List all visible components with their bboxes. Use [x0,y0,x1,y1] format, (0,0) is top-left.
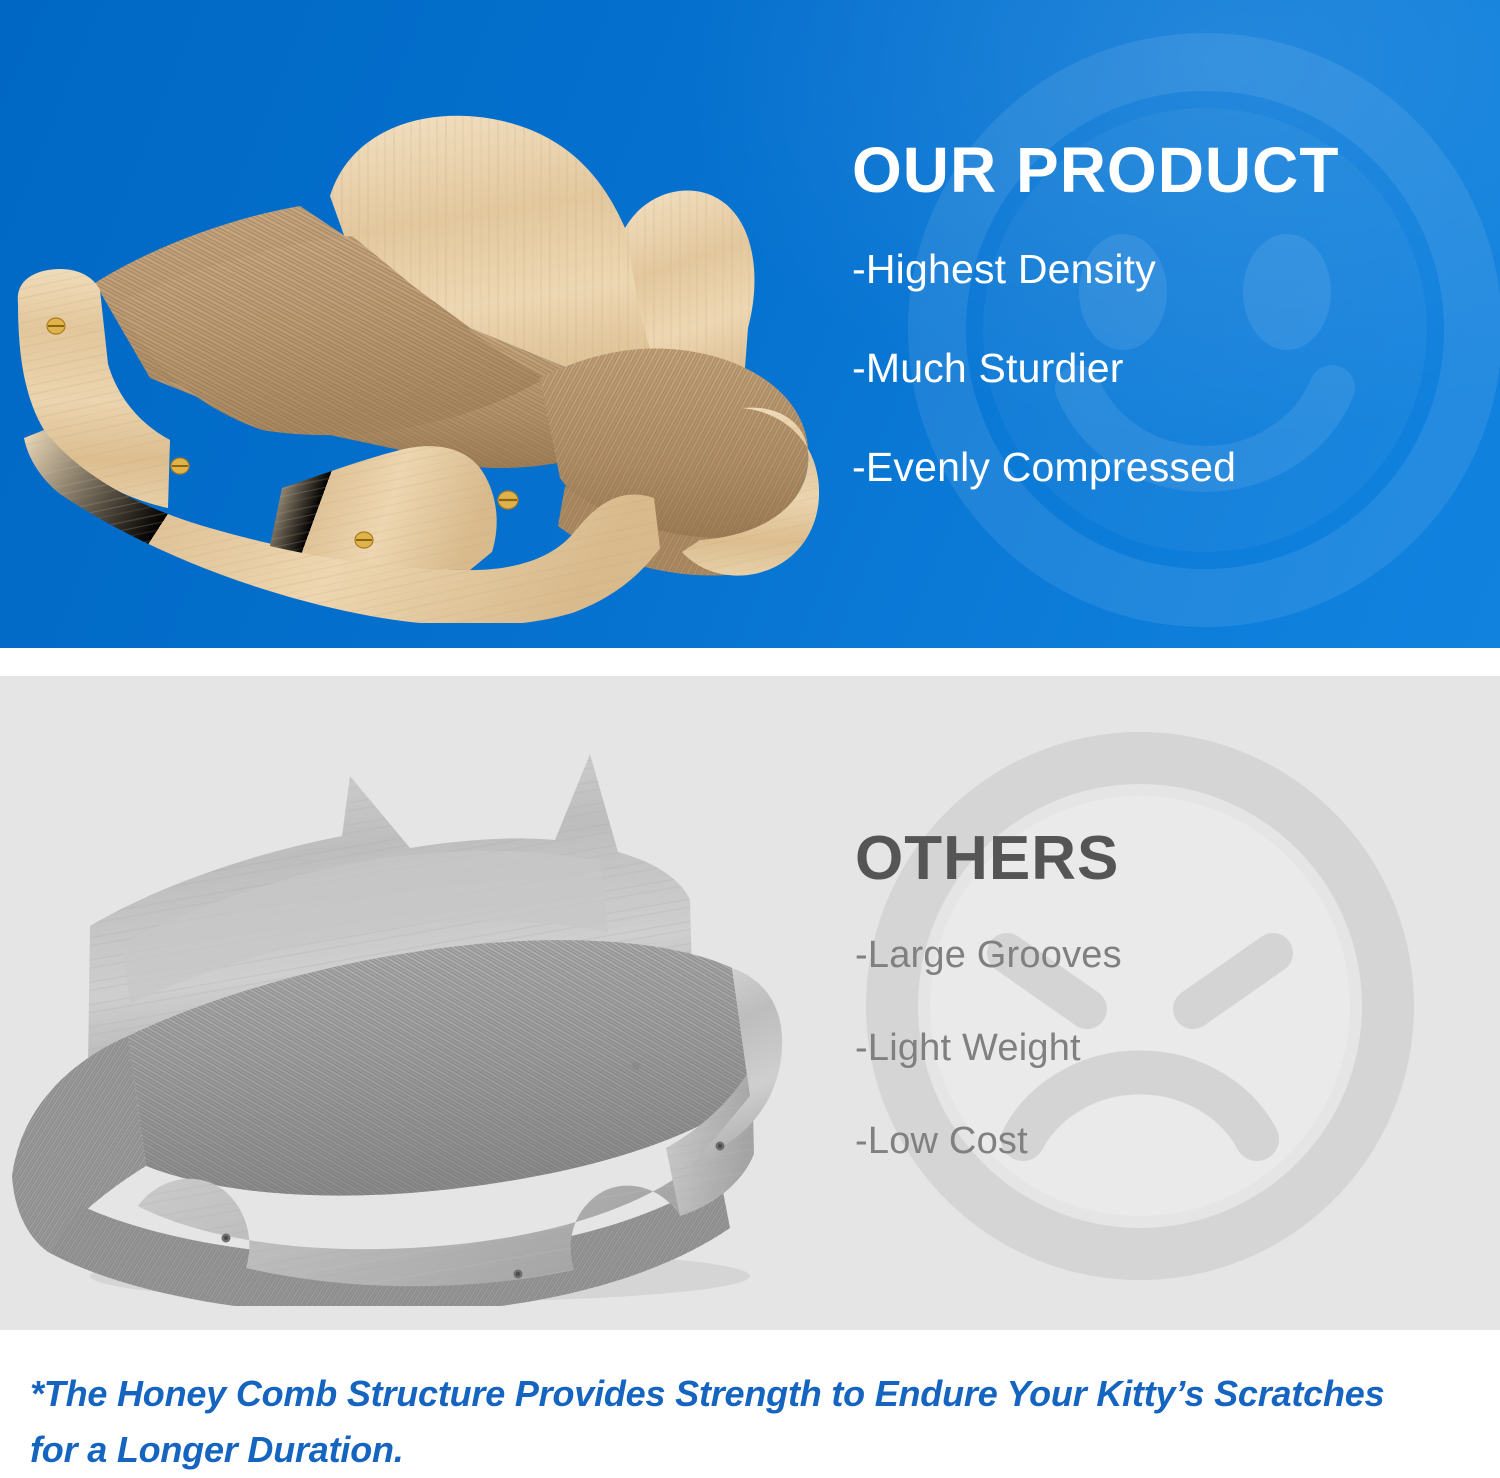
list-item: -Low Cost [855,1120,1475,1163]
list-item: -Large Grooves [855,934,1475,977]
others-panel: OTHERS -Large Grooves -Light Weight -Low… [0,676,1500,1330]
others-bullet-list: -Large Grooves -Light Weight -Low Cost [855,934,1475,1163]
list-item: -Highest Density [852,246,1472,293]
footer-text-block: *The Honey Comb Structure Provides Stren… [30,1366,1470,1478]
panel-divider [0,648,1500,676]
others-heading: OTHERS [855,828,1475,890]
gray-cat-ear-scratcher-image [0,736,840,1306]
wood-wave-cat-scratcher-image [0,78,850,623]
our-product-text-block: OUR PRODUCT -Highest Density -Much Sturd… [852,138,1472,491]
footer-line-2: for a Longer Duration. [30,1422,1470,1478]
comparison-infographic: OUR PRODUCT -Highest Density -Much Sturd… [0,0,1500,1477]
footer-note: *The Honey Comb Structure Provides Stren… [0,1330,1500,1477]
our-product-bullet-list: -Highest Density -Much Sturdier -Evenly … [852,246,1472,491]
list-item: -Evenly Compressed [852,444,1472,491]
others-text-block: OTHERS -Large Grooves -Light Weight -Low… [855,828,1475,1163]
our-product-heading: OUR PRODUCT [852,138,1472,202]
list-item: -Much Sturdier [852,345,1472,392]
footer-line-1: *The Honey Comb Structure Provides Stren… [30,1366,1470,1422]
our-product-panel: OUR PRODUCT -Highest Density -Much Sturd… [0,0,1500,648]
list-item: -Light Weight [855,1027,1475,1070]
